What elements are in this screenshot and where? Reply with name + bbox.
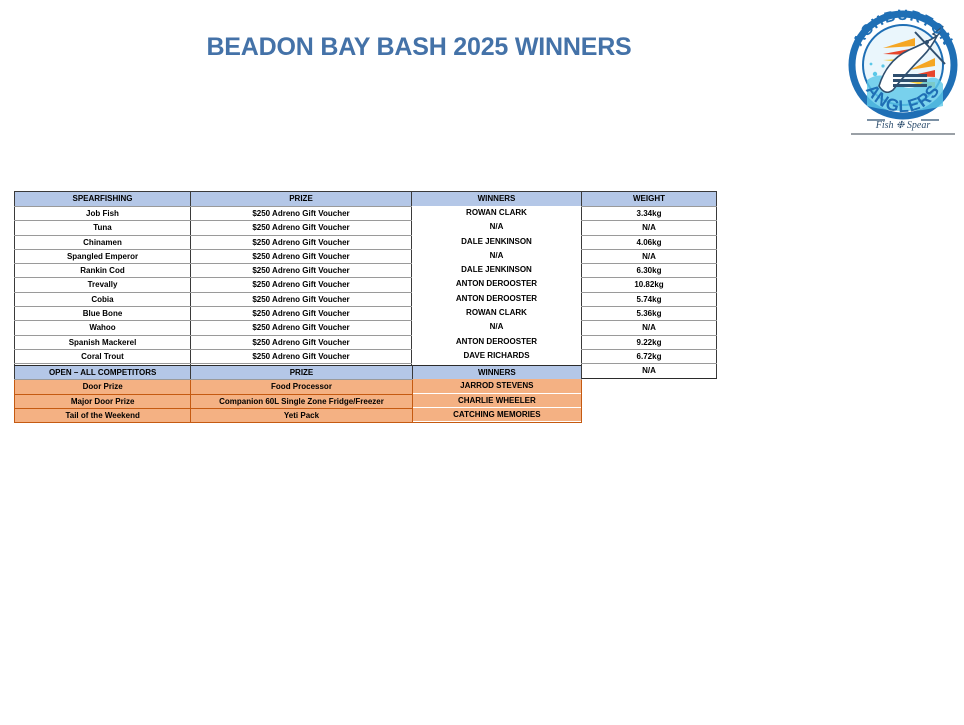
cell-prize: $250 Adreno Gift Voucher [191, 235, 412, 249]
cell-weight: 10.82kg [582, 278, 717, 292]
cell-prize: $250 Adreno Gift Voucher [191, 321, 412, 335]
cell-weight: 5.36kg [582, 307, 717, 321]
cell-weight: N/A [582, 249, 717, 263]
cell-weight: N/A [582, 364, 717, 378]
column-header-winners: WINNERS [412, 192, 582, 207]
table-row: Spangled Emperor$250 Adreno Gift Voucher… [15, 249, 717, 263]
cell-winner: ROWAN CLARK [412, 306, 582, 320]
column-header-open-competitors: OPEN – ALL COMPETITORS [15, 366, 191, 380]
cell-winner: N/A [412, 220, 582, 234]
cell-winner: CHARLIE WHEELER [412, 393, 581, 407]
cell-winner: ANTON DEROOSTER [412, 277, 582, 291]
table-row: Coral Trout$250 Adreno Gift VoucherDAVE … [15, 349, 717, 363]
cell-winner: JARROD STEVENS [412, 379, 581, 393]
cell-winner: N/A [412, 248, 582, 262]
table-row: Wahoo$250 Adreno Gift VoucherN/AN/A [15, 321, 717, 335]
logo-graphic: ASHBURTON ANGLERS Fish ❉ Spear [845, 8, 961, 136]
cell-species: Trevally [15, 278, 191, 292]
table-row: Trevally$250 Adreno Gift VoucherANTON DE… [15, 278, 717, 292]
cell-winner: ANTON DEROOSTER [412, 291, 582, 305]
cell-species: Spangled Emperor [15, 249, 191, 263]
cell-species: Wahoo [15, 321, 191, 335]
cell-prize: $250 Adreno Gift Voucher [191, 249, 412, 263]
cell-species: Rankin Cod [15, 264, 191, 278]
cell-species: Tuna [15, 221, 191, 235]
table-row: Job Fish$250 Adreno Gift VoucherROWAN CL… [15, 207, 717, 221]
cell-category: Major Door Prize [15, 394, 191, 408]
logo-tagline: Fish ❉ Spear [875, 120, 931, 131]
cell-weight: 6.72kg [582, 349, 717, 363]
cell-prize: $250 Adreno Gift Voucher [191, 335, 412, 349]
table-row: Door PrizeFood ProcessorJARROD STEVENS [15, 380, 582, 394]
cell-weight: 5.74kg [582, 292, 717, 306]
ashburton-anglers-logo: ASHBURTON ANGLERS Fish ❉ Spear [845, 8, 961, 136]
logo-stripes [893, 74, 927, 87]
table-row: Major Door PrizeCompanion 60L Single Zon… [15, 394, 582, 408]
cell-weight: N/A [582, 321, 717, 335]
cell-weight: 9.22kg [582, 335, 717, 349]
cell-species: Chinamen [15, 235, 191, 249]
table-row: Cobia$250 Adreno Gift VoucherANTON DEROO… [15, 292, 717, 306]
column-header-prize: PRIZE [191, 192, 412, 207]
column-header-weight: WEIGHT [582, 192, 717, 207]
cell-species: Coral Trout [15, 349, 191, 363]
cell-species: Blue Bone [15, 307, 191, 321]
cell-weight: 6.30kg [582, 264, 717, 278]
column-header-open-prize: PRIZE [191, 366, 412, 380]
spearfishing-results-table: SPEARFISHING PRIZE WINNERS WEIGHT Job Fi… [14, 191, 717, 379]
cell-weight: N/A [582, 221, 717, 235]
table-row: Rankin Cod$250 Adreno Gift VoucherDALE J… [15, 264, 717, 278]
cell-weight: 4.06kg [582, 235, 717, 249]
table-row: Spanish Mackerel$250 Adreno Gift Voucher… [15, 335, 717, 349]
cell-prize: $250 Adreno Gift Voucher [191, 207, 412, 221]
table-row: Tuna$250 Adreno Gift VoucherN/AN/A [15, 221, 717, 235]
page-title: BEADON BAY BASH 2025 WINNERS [0, 33, 838, 62]
cell-species: Spanish Mackerel [15, 335, 191, 349]
cell-winner: DALE JENKINSON [412, 234, 582, 248]
column-header-open-winners: WINNERS [412, 366, 581, 380]
cell-prize: $250 Adreno Gift Voucher [191, 292, 412, 306]
cell-winner: ANTON DEROOSTER [412, 334, 582, 348]
column-header-spearfishing: SPEARFISHING [15, 192, 191, 207]
cell-prize: Food Processor [191, 380, 412, 394]
cell-winner: DAVE RICHARDS [412, 348, 582, 362]
table-row: Blue Bone$250 Adreno Gift VoucherROWAN C… [15, 307, 717, 321]
open-table-header-row: OPEN – ALL COMPETITORS PRIZE WINNERS [15, 366, 582, 380]
cell-prize: $250 Adreno Gift Voucher [191, 349, 412, 363]
cell-species: Job Fish [15, 207, 191, 221]
cell-prize: Yeti Pack [191, 408, 412, 422]
cell-prize: $250 Adreno Gift Voucher [191, 221, 412, 235]
cell-species: Cobia [15, 292, 191, 306]
cell-prize: $250 Adreno Gift Voucher [191, 307, 412, 321]
cell-prize: $250 Adreno Gift Voucher [191, 264, 412, 278]
cell-prize: Companion 60L Single Zone Fridge/Freezer [191, 394, 412, 408]
cell-winner: CATCHING MEMORIES [412, 407, 581, 421]
cell-winner: ROWAN CLARK [412, 206, 582, 220]
cell-category: Tail of the Weekend [15, 408, 191, 422]
cell-winner: DALE JENKINSON [412, 263, 582, 277]
cell-weight: 3.34kg [582, 207, 717, 221]
table-row: Chinamen$250 Adreno Gift VoucherDALE JEN… [15, 235, 717, 249]
cell-prize: $250 Adreno Gift Voucher [191, 278, 412, 292]
cell-category: Door Prize [15, 380, 191, 394]
cell-winner: N/A [412, 320, 582, 334]
open-all-competitors-table: OPEN – ALL COMPETITORS PRIZE WINNERS Doo… [14, 365, 582, 423]
table-row: Tail of the WeekendYeti PackCATCHING MEM… [15, 408, 582, 422]
table-header-row: SPEARFISHING PRIZE WINNERS WEIGHT [15, 192, 717, 207]
